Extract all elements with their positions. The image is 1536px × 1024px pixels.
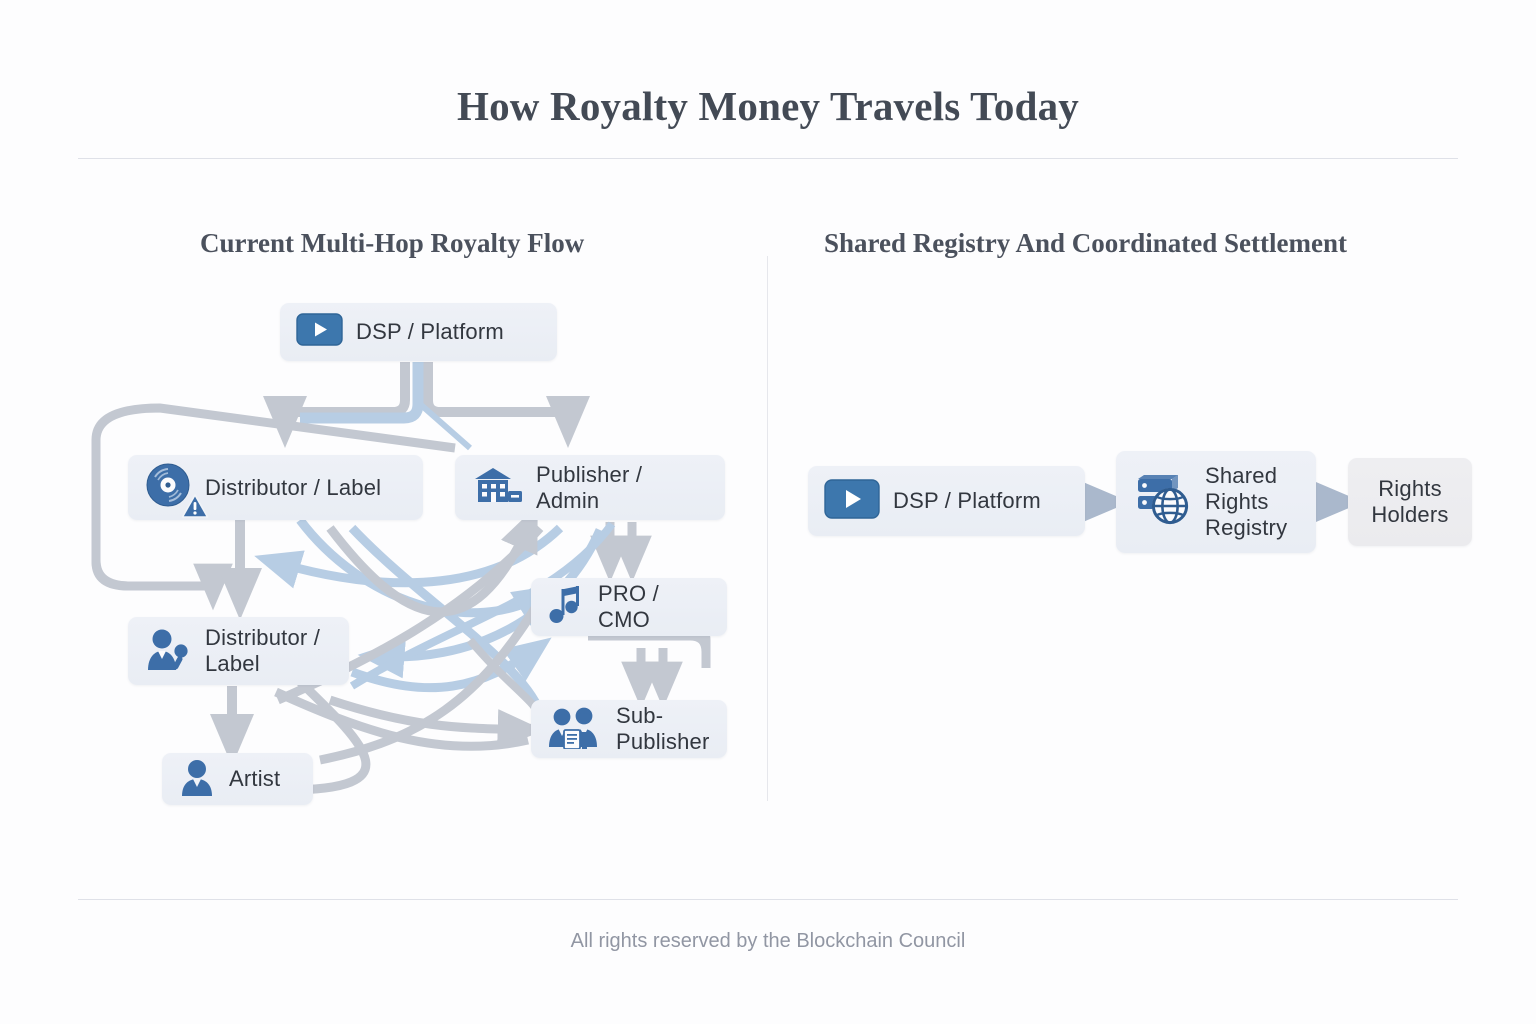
node-rights-holders[interactable]: Rights Holders [1348, 458, 1472, 546]
node-label: Rights Holders [1371, 476, 1448, 528]
play-icon [824, 479, 880, 524]
node-dsp-platform-right[interactable]: DSP / Platform [808, 466, 1085, 536]
node-sub-publisher[interactable]: Sub-Publisher [531, 700, 727, 758]
node-label: Shared Rights Registry [1205, 463, 1287, 541]
node-pro-cmo[interactable]: PRO / CMO [531, 578, 727, 636]
singer-icon [144, 626, 192, 677]
node-dsp-platform[interactable]: DSP / Platform [280, 303, 557, 361]
node-label: Distributor / Label [205, 475, 381, 501]
node-label: Sub-Publisher [616, 703, 711, 755]
two-people-document-icon [547, 705, 603, 754]
building-icon [471, 463, 523, 513]
node-artist[interactable]: Artist [162, 753, 313, 805]
node-label: Publisher / Admin [536, 462, 709, 514]
node-label: DSP / Platform [356, 319, 504, 345]
node-label: Distributor / Label [205, 625, 320, 677]
node-label: PRO / CMO [598, 581, 711, 633]
vinyl-record-icon [144, 461, 192, 514]
music-note-icon [547, 584, 585, 631]
play-icon [296, 313, 343, 351]
node-shared-rights-registry[interactable]: Shared Rights Registry [1116, 451, 1316, 553]
node-publisher-admin[interactable]: Publisher / Admin [455, 455, 725, 520]
warning-icon [181, 493, 209, 519]
node-label: DSP / Platform [893, 488, 1041, 514]
node-distributor-label-1[interactable]: Distributor / Label [128, 455, 423, 520]
node-distributor-label-2[interactable]: Distributor / Label [128, 617, 349, 685]
person-icon [178, 757, 216, 802]
server-globe-icon [1132, 471, 1192, 534]
node-label: Artist [229, 766, 280, 792]
footer-text: All rights reserved by the Blockchain Co… [0, 930, 1536, 953]
footer-divider [78, 899, 1458, 900]
